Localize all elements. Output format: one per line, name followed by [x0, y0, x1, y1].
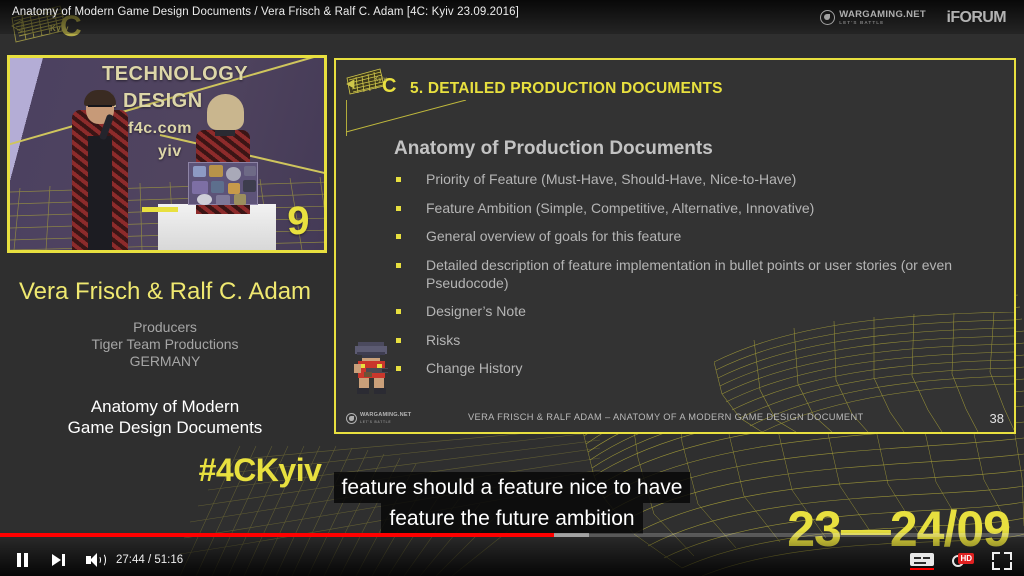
wargaming-footer-name: WARGAMING.NET: [360, 413, 411, 419]
caption-line: feature should a feature nice to have: [334, 472, 691, 503]
bullet-item: Risks: [392, 331, 992, 349]
slide-heading: Anatomy of Production Documents: [394, 138, 713, 160]
speaker-male-shirt: [88, 136, 112, 253]
wargaming-overlay-logo: WARGAMING.NET LET'S BATTLE: [820, 10, 926, 26]
wargaming-footer-logo: WARGAMING.NET LET'S BATTLE: [346, 413, 411, 424]
wargaming-footer-tagline: LET'S BATTLE: [360, 420, 411, 424]
sticker-laptop: [188, 162, 258, 205]
progress-bar[interactable]: [0, 533, 1024, 537]
slide-page-number: 38: [990, 411, 1004, 426]
player-controls: 27:44 / 51:16 HD: [0, 530, 1024, 576]
backdrop-text-domain: f4c.com: [128, 120, 192, 138]
backdrop-text-city: yiv: [158, 143, 182, 161]
controls-right-group: HD: [910, 552, 1012, 570]
speaker-role: Producers Tiger Team Productions GERMANY: [0, 319, 330, 370]
bullet-item: Detailed description of feature implemen…: [392, 256, 992, 292]
live-video-feed: TECHNOLOGY & DESIGN f4c.com yiv: [7, 55, 327, 253]
youtube-player: TECHNOLOGY & DESIGN f4c.com yiv: [0, 0, 1024, 576]
player-title-bar: Anatomy of Modern Game Design Documents …: [0, 0, 1024, 34]
desk-accent-strip: [142, 207, 178, 212]
slide-section-title: 5. DETAILED PRODUCTION DOCUMENTS: [410, 80, 723, 98]
talk-title-line-1: Anatomy of Modern: [0, 396, 330, 417]
captions-active-underline: [910, 568, 934, 571]
speaker-male-glasses: [88, 105, 112, 110]
progress-played: [0, 533, 554, 537]
speaker-female-hair: [207, 94, 244, 130]
next-video-button[interactable]: [48, 550, 68, 570]
talk-title-line-2: Game Design Documents: [0, 417, 330, 438]
time-display: 27:44 / 51:16: [116, 554, 183, 566]
wargaming-tagline: LET'S BATTLE: [839, 21, 926, 26]
talk-title: Anatomy of Modern Game Design Documents: [0, 396, 330, 438]
bullet-item: Feature Ambition (Simple, Competitive, A…: [392, 199, 992, 217]
role-line-2: Tiger Team Productions: [0, 336, 330, 353]
role-line-3: GERMANY: [0, 353, 330, 370]
settings-quality-button[interactable]: HD: [952, 553, 974, 569]
wargaming-name: WARGAMING.NET: [839, 10, 926, 20]
video-title: Anatomy of Modern Game Design Documents …: [12, 6, 519, 18]
backdrop-number: 9: [287, 199, 310, 244]
hd-badge: HD: [958, 553, 974, 564]
slide-accent-lines: [346, 100, 486, 136]
pause-button[interactable]: [12, 550, 32, 570]
backdrop-text-technology: TECHNOLOGY: [102, 63, 248, 86]
controls-left-group: 27:44 / 51:16: [12, 550, 183, 570]
speaker-male-hair: [84, 90, 116, 106]
role-line-1: Producers: [0, 319, 330, 336]
caption-container: feature should a feature nice to have fe…: [0, 472, 1024, 534]
bullet-item: General overview of goals for this featu…: [392, 227, 992, 245]
bullet-item: Designer’s Note: [392, 302, 992, 320]
bullet-item: Priority of Feature (Must-Have, Should-H…: [392, 170, 992, 188]
soldier-mascot-icon: [346, 338, 398, 396]
slide-footer-text: VERA FRISCH & RALF ADAM – ANATOMY OF A M…: [468, 412, 864, 422]
wargaming-mark-icon: [346, 413, 357, 424]
captions-button[interactable]: [910, 552, 934, 570]
speaker-names: Vera Frisch & Ralf C. Adam: [0, 278, 330, 306]
wargaming-mark-icon: [820, 10, 835, 25]
four-c-logo-kyiv-label: Kyiv: [374, 77, 387, 83]
volume-button[interactable]: [84, 550, 104, 570]
iforum-name: iFORUM: [946, 9, 1006, 26]
exit-fullscreen-button[interactable]: [992, 552, 1012, 570]
iforum-overlay-logo: iFORUM: [946, 9, 1006, 27]
presentation-slide-panel: C Kyiv 5. DETAILED PRODUCTION DOCUMENTS …: [334, 58, 1016, 434]
bullet-item: Change History: [392, 359, 992, 377]
slide-bullet-list: Priority of Feature (Must-Have, Should-H…: [392, 170, 992, 388]
